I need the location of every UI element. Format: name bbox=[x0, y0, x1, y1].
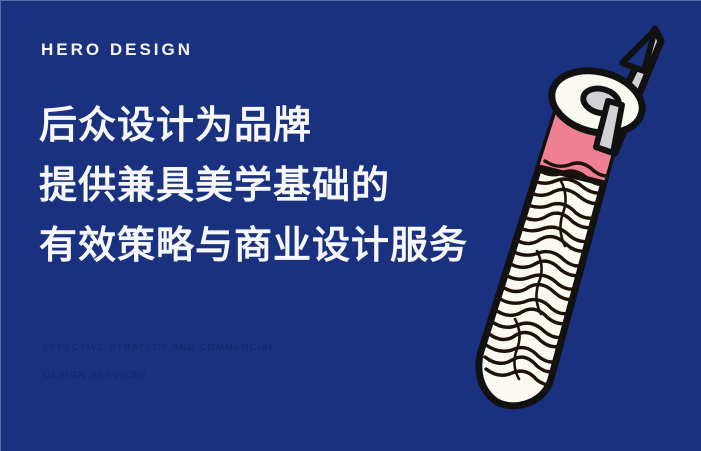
headline-line-1: 后众设计为品牌 bbox=[39, 96, 509, 156]
pink-band bbox=[529, 93, 637, 187]
subtext-line-1: EFFECTIVE STRATEGY AND COMMERCIAL bbox=[43, 334, 343, 362]
hero-banner: HERO DESIGN 后众设计为品牌 提供兼具美学基础的 有效策略与商业设计服… bbox=[0, 0, 701, 451]
headline-line-3: 有效策略与商业设计服务 bbox=[39, 216, 509, 276]
headline-line-2: 提供兼具美学基础的 bbox=[39, 156, 509, 216]
roll-cap bbox=[545, 62, 649, 142]
brand-eyebrow: HERO DESIGN bbox=[41, 40, 193, 60]
subtext-line-2: DESIGN SERVICES bbox=[43, 362, 343, 390]
subtext-block: EFFECTIVE STRATEGY AND COMMERCIAL DESIGN… bbox=[43, 334, 343, 390]
blade-lower-segment bbox=[596, 101, 622, 153]
blade-shape bbox=[596, 29, 661, 153]
headline-block: 后众设计为品牌 提供兼具美学基础的 有效策略与商业设计服务 bbox=[39, 96, 509, 276]
